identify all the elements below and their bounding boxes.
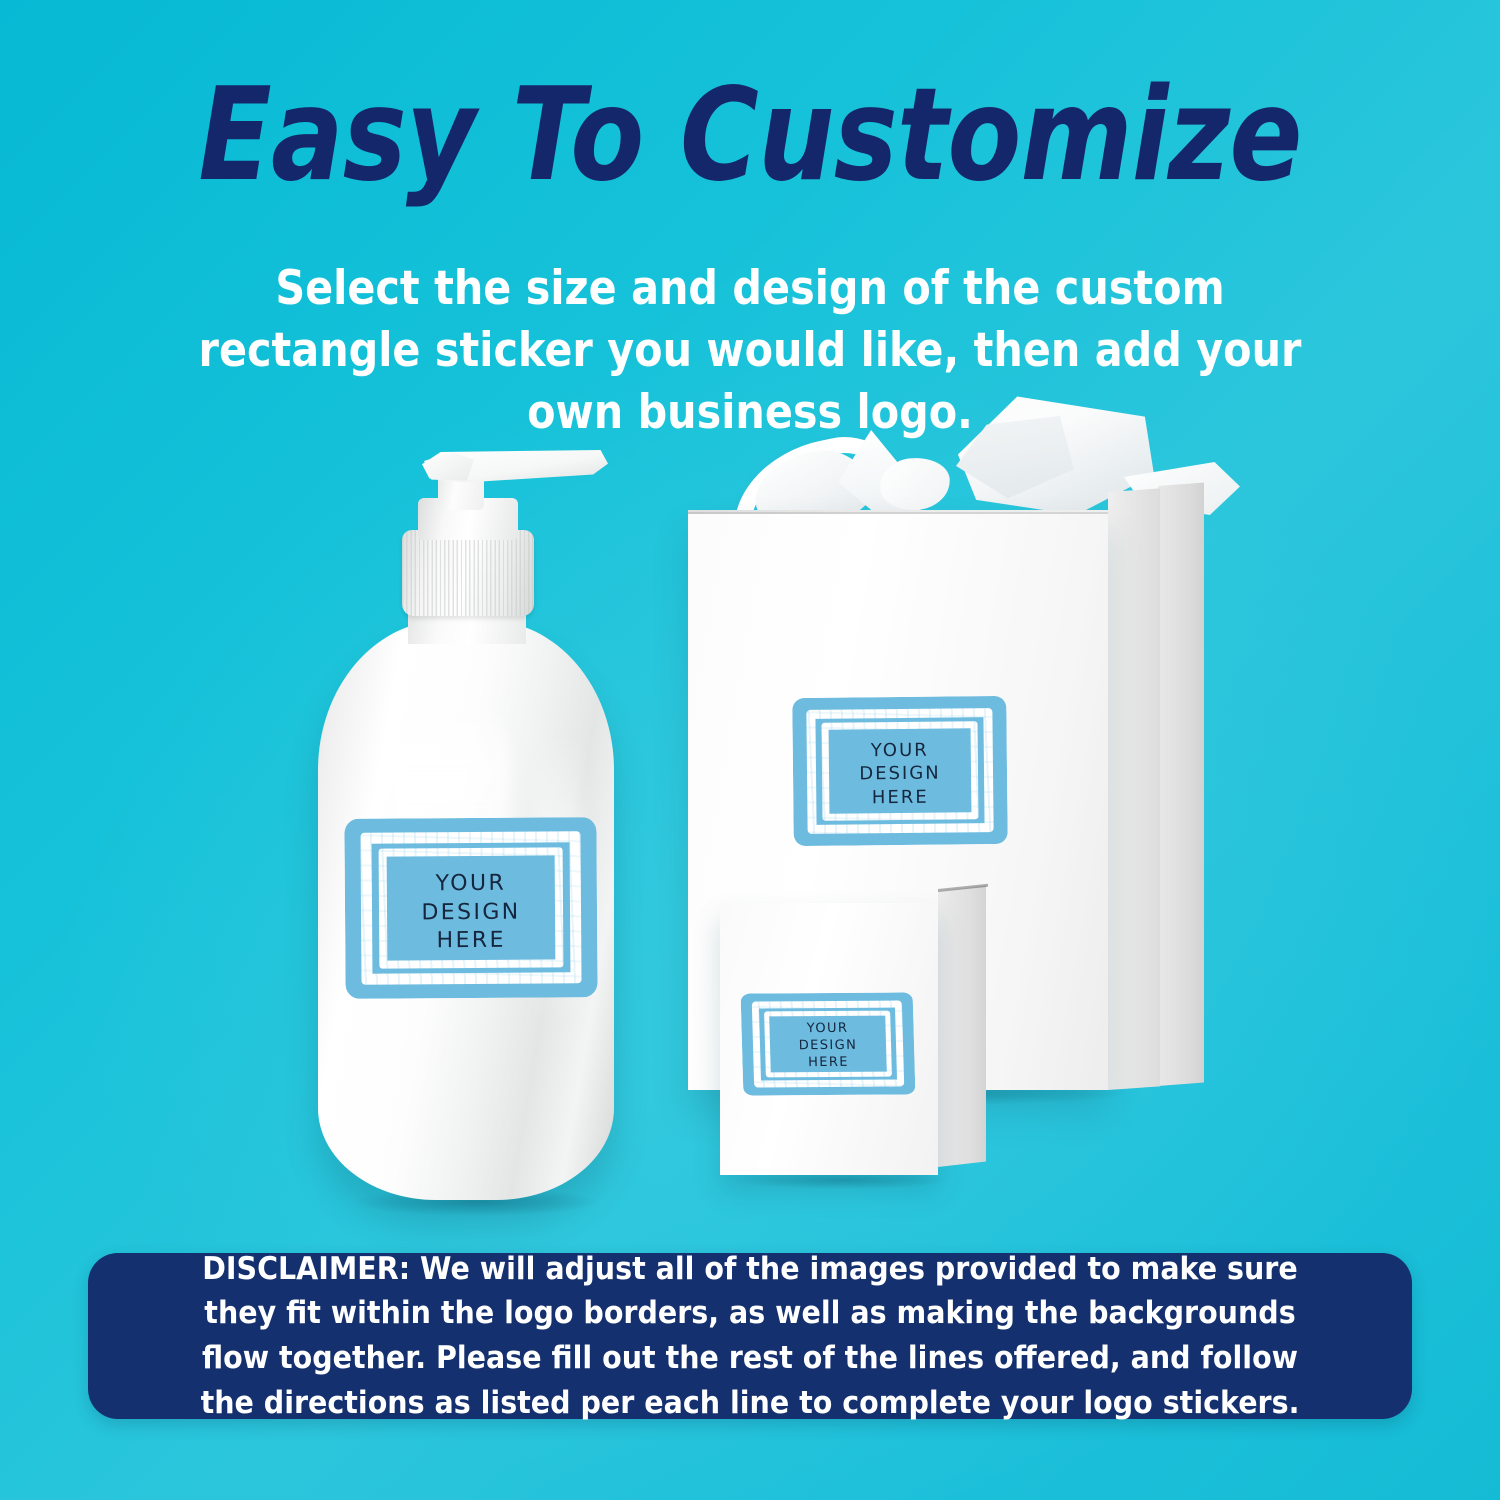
disclaimer-text: DISCLAIMER: We will adjust all of the im… xyxy=(141,1247,1359,1426)
bottle-ribbed-cap xyxy=(402,530,534,616)
sticker-label-text: YOUR DESIGN HERE xyxy=(793,738,1008,810)
sticker-on-bottle[interactable]: YOUR DESIGN HERE xyxy=(344,817,597,999)
disclaimer-banner: DISCLAIMER: We will adjust all of the im… xyxy=(88,1253,1412,1419)
sticker-label-text: YOUR DESIGN HERE xyxy=(741,1020,914,1072)
gift-box-side xyxy=(1108,488,1160,1090)
gift-box-lid-line xyxy=(688,512,1108,514)
page-title: Easy To Customize xyxy=(120,72,1380,200)
sticker-on-gift-box[interactable]: YOUR DESIGN HERE xyxy=(792,696,1008,846)
small-box-side xyxy=(938,886,986,1167)
sticker-label-text: YOUR DESIGN HERE xyxy=(345,869,598,957)
gift-box-side-back xyxy=(1158,482,1204,1086)
sticker-on-small-box[interactable]: YOUR DESIGN HERE xyxy=(741,992,916,1095)
promo-graphic: Easy To Customize Select the size and de… xyxy=(0,0,1500,1500)
disclaimer-label: DISCLAIMER: xyxy=(202,1251,410,1287)
